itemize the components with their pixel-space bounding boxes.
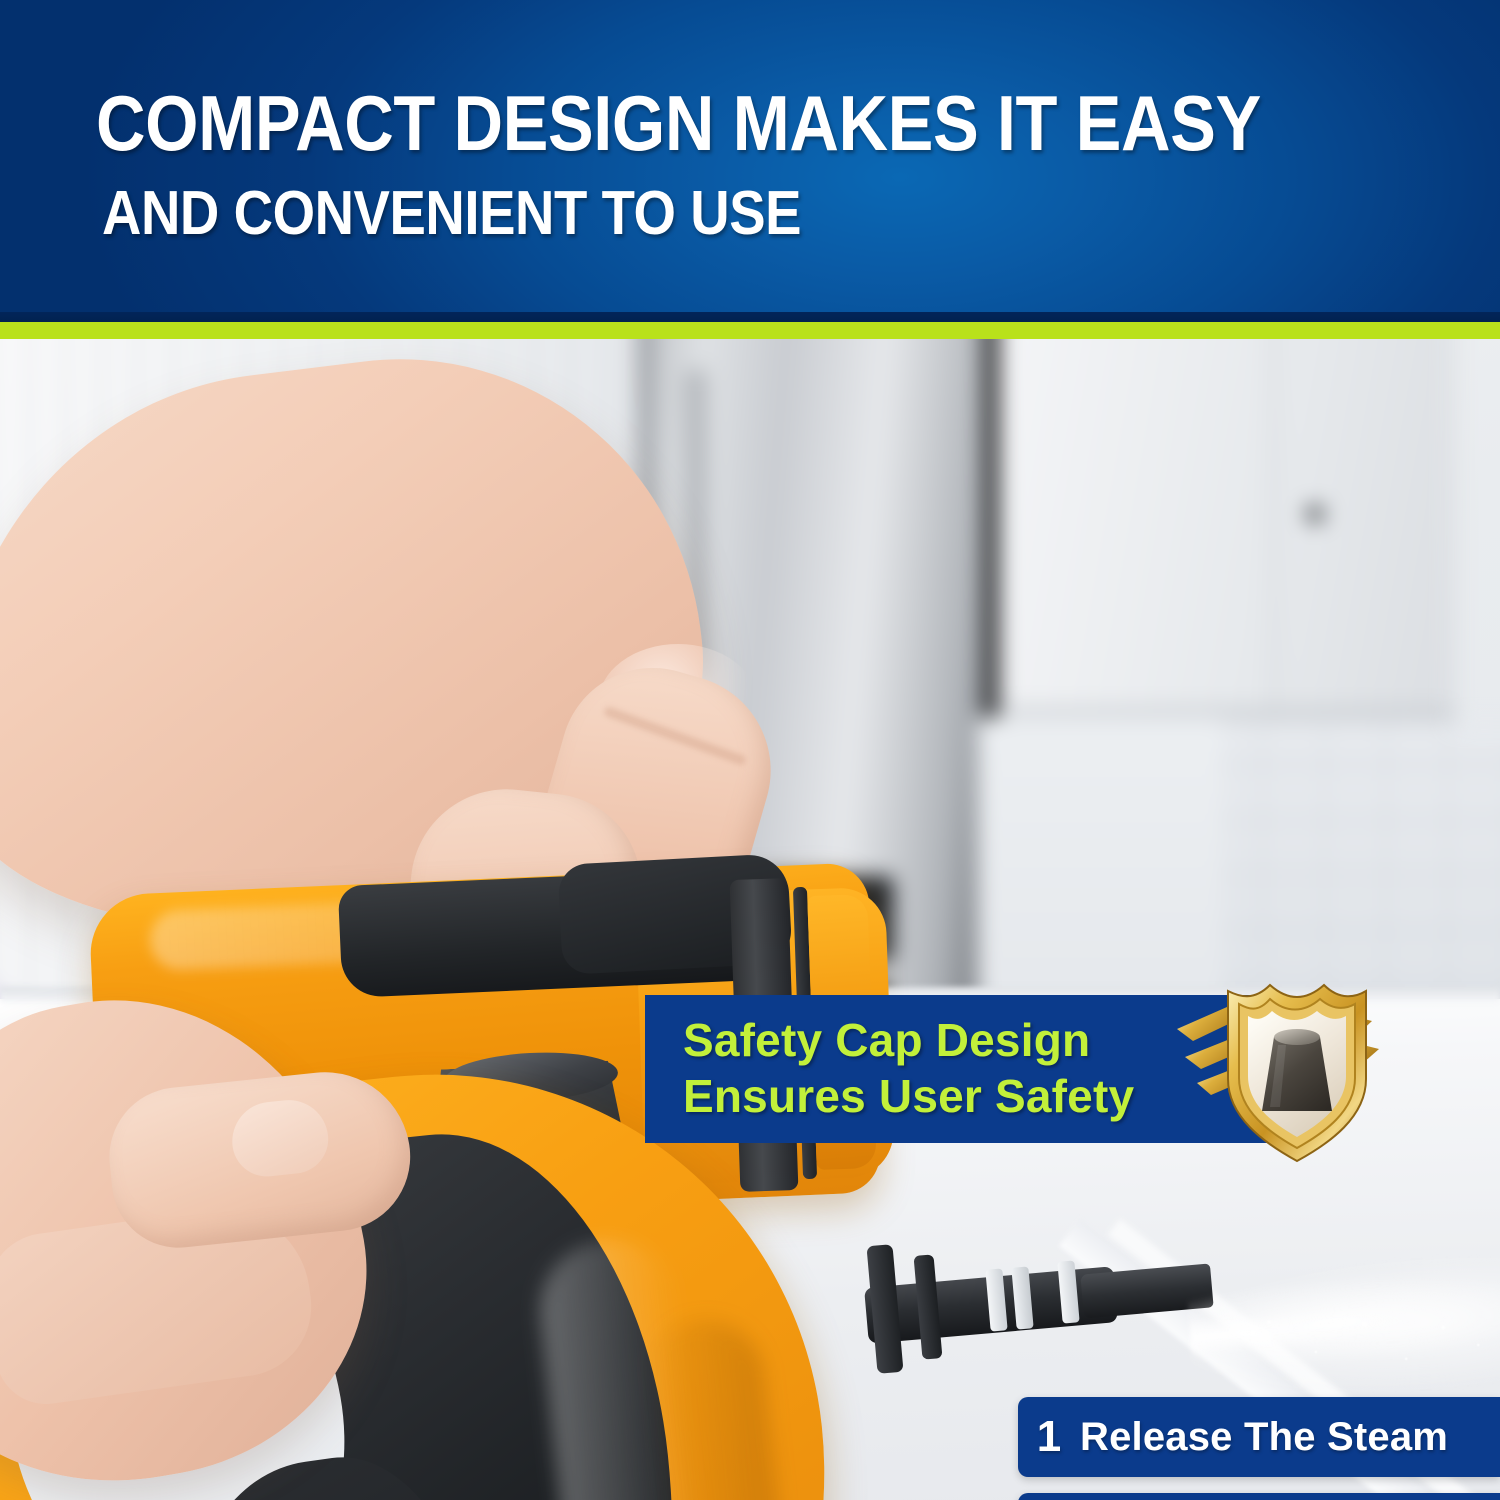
header-banner: COMPACT DESIGN MAKES IT EASY AND CONVENI… [0,0,1500,322]
cabinet-right [999,339,1455,728]
safety-cap-shield-icon [1175,971,1475,1171]
steam-droplets [1217,1275,1500,1404]
step-badge-2[interactable]: 2 Open The Cap [1018,1493,1500,1500]
shield-svg [1175,971,1475,1171]
safety-cap-callout-text: Safety Cap Design Ensures User Safety [683,1012,1260,1124]
step-badge-1[interactable]: 1 Release The Steam [1018,1397,1500,1477]
headline-primary: COMPACT DESIGN MAKES IT EASY [96,84,1261,162]
green-divider [0,322,1500,339]
step-list: 1 Release The Steam 2 Open The Cap [1018,1397,1500,1500]
step-label: Release The Steam [1080,1415,1448,1460]
headline-secondary: AND CONVENIENT TO USE [102,183,801,245]
step-number: 1 [1018,1412,1080,1462]
cabinet-seam [1269,339,1277,728]
safety-callout-line-2: Ensures User Safety [683,1070,1134,1122]
cabinet-knob-icon [1307,506,1324,523]
product-feature-image: COMPACT DESIGN MAKES IT EASY AND CONVENI… [0,0,1500,1500]
product-photo: Safety Cap Design Ensures User Safety [0,339,1500,1500]
safety-callout-line-1: Safety Cap Design [683,1014,1090,1066]
